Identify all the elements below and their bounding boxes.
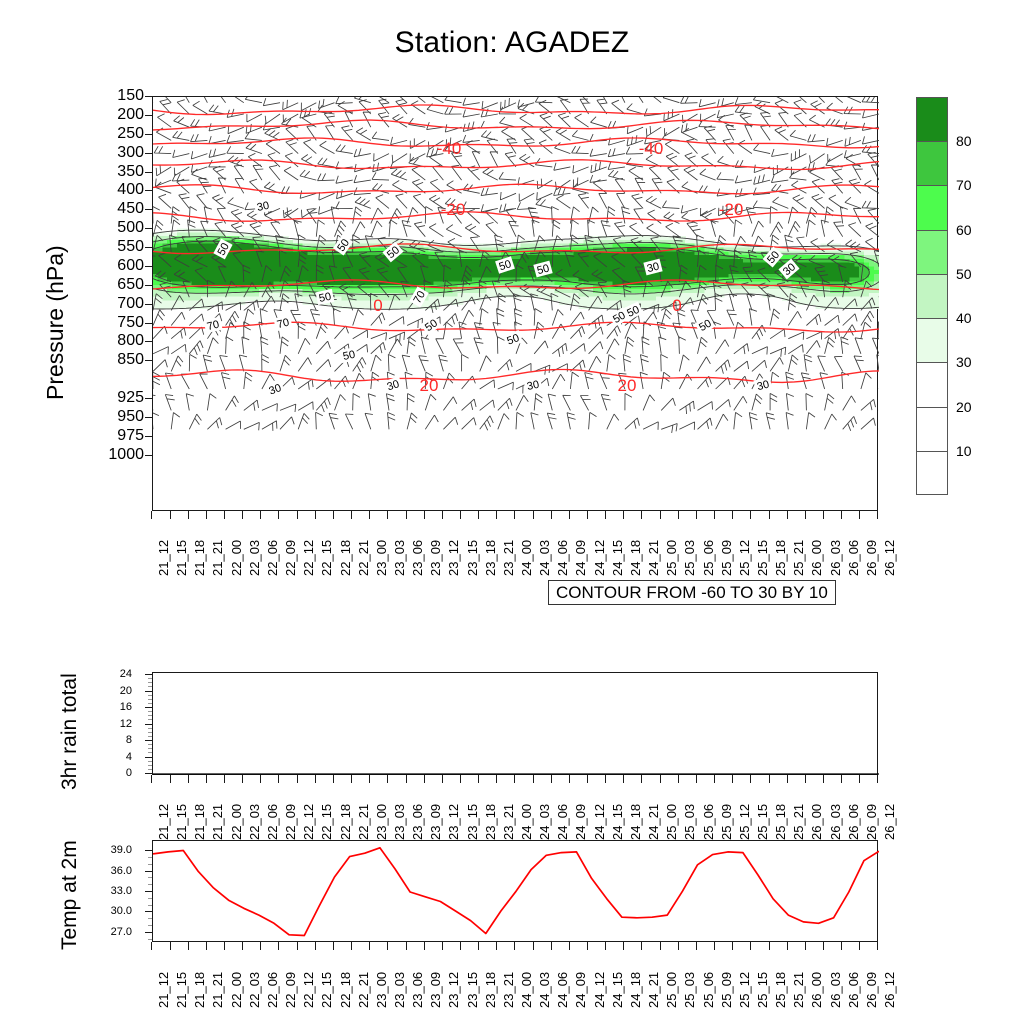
rain-x-tickmark <box>406 775 407 783</box>
main-x-label-23_06: 23_06 <box>411 540 424 576</box>
main-x-label-24_06: 24_06 <box>556 540 569 576</box>
temp-x-tickmark <box>750 942 751 950</box>
rain-tickmark <box>145 773 152 774</box>
rain-x-tickmark <box>514 775 515 783</box>
temp-x-tickmark <box>877 942 878 950</box>
rain-x-label-25_18: 25_18 <box>774 804 787 840</box>
rain-x-label-22_15: 22_15 <box>320 804 333 840</box>
main-x-label-24_09: 24_09 <box>574 540 587 576</box>
temp-x-label-25_06: 25_06 <box>702 972 715 1008</box>
colorbar-tick-30: 30 <box>956 355 972 369</box>
rain-x-tickmark <box>478 775 479 783</box>
pressure-tickmark <box>145 360 152 361</box>
main-x-label-24_15: 24_15 <box>611 540 624 576</box>
rain-x-label-23_03: 23_03 <box>393 804 406 840</box>
page-title: Station: AGADEZ <box>0 26 1024 60</box>
main-x-label-22_00: 22_00 <box>230 540 243 576</box>
rain-x-tickmark <box>151 775 152 783</box>
main-x-label-24_03: 24_03 <box>538 540 551 576</box>
svg-text:-20: -20 <box>719 200 744 219</box>
temp-x-tickmark <box>605 942 606 950</box>
rain-x-label-21_15: 21_15 <box>175 804 188 840</box>
temp-x-label-23_15: 23_15 <box>466 972 479 1008</box>
rain-x-tickmark <box>551 775 552 783</box>
colorbar-tick-80: 80 <box>956 134 972 148</box>
svg-text:0: 0 <box>672 296 681 315</box>
temp-plot-area <box>152 840 878 942</box>
rain-x-label-23_12: 23_12 <box>447 804 460 840</box>
temp-x-label-21_12: 21_12 <box>157 972 170 1008</box>
rain-x-label-24_21: 24_21 <box>647 804 660 840</box>
temp-x-label-22_18: 22_18 <box>339 972 352 1008</box>
main-x-label-25_15: 25_15 <box>756 540 769 576</box>
temp-x-label-25_00: 25_00 <box>665 972 678 1008</box>
rain-x-label-22_09: 22_09 <box>284 804 297 840</box>
pressure-tick-700: 700 <box>60 296 144 312</box>
rain-plot-area <box>152 672 878 775</box>
rain-tickmark <box>145 691 152 692</box>
temp-x-tickmark <box>696 942 697 950</box>
temp-x-label-26_12: 26_12 <box>883 972 896 1008</box>
svg-text:-20: -20 <box>441 200 466 219</box>
colorbar-tick-40: 40 <box>956 311 972 325</box>
temp-x-label-21_15: 21_15 <box>175 972 188 1008</box>
svg-text:20: 20 <box>618 376 637 395</box>
main-x-tickmark <box>750 511 751 519</box>
rain-tick-0: 0 <box>92 768 132 779</box>
temp-x-tickmark <box>569 942 570 950</box>
temp-tickmark <box>145 871 152 872</box>
colorbar-cell-2 <box>916 185 948 229</box>
rain-x-tickmark <box>369 775 370 783</box>
temp-tickmark <box>145 932 152 933</box>
temp-x-tickmark <box>769 942 770 950</box>
rain-x-label-26_06: 26_06 <box>847 804 860 840</box>
rain-x-label-21_12: 21_12 <box>157 804 170 840</box>
main-x-label-22_12: 22_12 <box>302 540 315 576</box>
rain-x-label-25_09: 25_09 <box>720 804 733 840</box>
temp-x-tickmark <box>315 942 316 950</box>
rain-x-label-25_03: 25_03 <box>683 804 696 840</box>
main-x-label-21_12: 21_12 <box>157 540 170 576</box>
main-x-label-24_18: 24_18 <box>629 540 642 576</box>
main-x-tickmark <box>732 511 733 519</box>
pressure-tickmark <box>145 115 152 116</box>
temp-x-label-24_09: 24_09 <box>574 972 587 1008</box>
rain-x-tickmark <box>533 775 534 783</box>
rain-x-tickmark <box>224 775 225 783</box>
temp-x-tickmark <box>841 942 842 950</box>
temp-x-label-23_06: 23_06 <box>411 972 424 1008</box>
main-x-label-22_15: 22_15 <box>320 540 333 576</box>
main-x-label-23_12: 23_12 <box>447 540 460 576</box>
main-x-tickmark <box>242 511 243 519</box>
chart-page: Station: AGADEZ Pressure (hPa) 150200250… <box>0 0 1024 1024</box>
main-x-tickmark <box>442 511 443 519</box>
pressure-tickmark <box>145 285 152 286</box>
rain-x-tickmark <box>877 775 878 783</box>
temp-x-tickmark <box>660 942 661 950</box>
main-x-label-23_09: 23_09 <box>429 540 442 576</box>
rain-x-tickmark <box>170 775 171 783</box>
temp-tick-39: 39.0 <box>84 845 132 856</box>
temp-x-label-23_21: 23_21 <box>502 972 515 1008</box>
temp-x-tickmark <box>514 942 515 950</box>
main-x-tickmark <box>841 511 842 519</box>
colorbar-cell-5 <box>916 318 948 362</box>
main-x-label-23_18: 23_18 <box>484 540 497 576</box>
rain-x-label-22_00: 22_00 <box>230 804 243 840</box>
temp-x-label-24_15: 24_15 <box>611 972 624 1008</box>
temp-series <box>153 841 879 943</box>
rain-x-label-22_12: 22_12 <box>302 804 315 840</box>
main-x-tickmark <box>170 511 171 519</box>
pressure-tick-800: 800 <box>60 333 144 349</box>
svg-text:-40: -40 <box>437 139 462 158</box>
temp-x-tickmark <box>151 942 152 950</box>
rain-x-tickmark <box>841 775 842 783</box>
rain-x-tickmark <box>278 775 279 783</box>
rain-panel-ylabel: 3hr rain total <box>58 673 82 790</box>
main-x-tickmark <box>696 511 697 519</box>
pressure-tickmark <box>145 96 152 97</box>
rain-x-label-22_06: 22_06 <box>266 804 279 840</box>
rain-x-label-23_15: 23_15 <box>466 804 479 840</box>
main-x-label-23_21: 23_21 <box>502 540 515 576</box>
contour-note: CONTOUR FROM -60 TO 30 BY 10 <box>548 580 836 605</box>
main-x-tickmark <box>188 511 189 519</box>
main-x-label-24_21: 24_21 <box>647 540 660 576</box>
temp-x-label-22_09: 22_09 <box>284 972 297 1008</box>
pressure-tick-250: 250 <box>60 126 144 142</box>
temp-x-label-26_06: 26_06 <box>847 972 860 1008</box>
main-x-tickmark <box>278 511 279 519</box>
main-x-label-25_18: 25_18 <box>774 540 787 576</box>
main-plot-area: -40-40-20-200020203050505050503030507050… <box>152 96 878 511</box>
svg-text:50: 50 <box>318 291 332 305</box>
main-x-tickmark <box>605 511 606 519</box>
main-x-tickmark <box>478 511 479 519</box>
temp-tickmark <box>145 850 152 851</box>
temp-x-label-25_12: 25_12 <box>738 972 751 1008</box>
rain-tick-16: 16 <box>92 702 132 713</box>
temp-x-tickmark <box>678 942 679 950</box>
main-x-tickmark <box>224 511 225 519</box>
main-x-label-23_15: 23_15 <box>466 540 479 576</box>
main-x-tickmark <box>460 511 461 519</box>
rain-x-tickmark <box>351 775 352 783</box>
main-x-label-25_03: 25_03 <box>683 540 696 576</box>
rain-x-label-24_15: 24_15 <box>611 804 624 840</box>
main-x-tickmark <box>297 511 298 519</box>
temp-x-tickmark <box>224 942 225 950</box>
temp-x-tickmark <box>369 942 370 950</box>
main-x-tickmark <box>496 511 497 519</box>
rain-tickmark <box>145 757 152 758</box>
rain-x-tickmark <box>242 775 243 783</box>
rain-x-label-23_18: 23_18 <box>484 804 497 840</box>
main-x-tickmark <box>714 511 715 519</box>
temp-x-label-24_18: 24_18 <box>629 972 642 1008</box>
colorbar-tick-10: 10 <box>956 444 972 458</box>
main-x-tickmark <box>551 511 552 519</box>
pressure-tick-950: 950 <box>60 409 144 425</box>
temp-x-tickmark <box>387 942 388 950</box>
main-x-tickmark <box>660 511 661 519</box>
pressure-tickmark <box>145 323 152 324</box>
rain-x-tickmark <box>460 775 461 783</box>
rain-x-tickmark <box>750 775 751 783</box>
temp-x-tickmark <box>424 942 425 950</box>
rain-x-label-24_18: 24_18 <box>629 804 642 840</box>
main-x-label-23_03: 23_03 <box>393 540 406 576</box>
main-x-label-26_06: 26_06 <box>847 540 860 576</box>
main-x-tickmark <box>587 511 588 519</box>
temp-x-tickmark <box>551 942 552 950</box>
pressure-tick-550: 550 <box>60 239 144 255</box>
colorbar <box>916 97 948 495</box>
main-x-label-25_09: 25_09 <box>720 540 733 576</box>
rain-tick-20: 20 <box>92 686 132 697</box>
rain-x-tickmark <box>732 775 733 783</box>
temp-x-label-26_03: 26_03 <box>829 972 842 1008</box>
svg-text:-40: -40 <box>639 139 664 158</box>
main-x-tickmark <box>514 511 515 519</box>
main-x-tickmark <box>859 511 860 519</box>
main-x-label-24_12: 24_12 <box>593 540 606 576</box>
rain-x-tickmark <box>442 775 443 783</box>
rain-x-label-23_21: 23_21 <box>502 804 515 840</box>
temp-tick-33: 33.0 <box>84 886 132 897</box>
pressure-tickmark <box>145 247 152 248</box>
rain-x-tickmark <box>823 775 824 783</box>
pressure-tickmark <box>145 417 152 418</box>
temp-x-tickmark <box>787 942 788 950</box>
temp-x-tickmark <box>460 942 461 950</box>
main-x-tickmark <box>533 511 534 519</box>
rain-x-label-25_21: 25_21 <box>792 804 805 840</box>
rain-x-tickmark <box>859 775 860 783</box>
rain-x-tickmark <box>805 775 806 783</box>
colorbar-cell-7 <box>916 407 948 451</box>
colorbar-cell-4 <box>916 274 948 318</box>
pressure-tickmark <box>145 398 152 399</box>
colorbar-tick-60: 60 <box>956 223 972 237</box>
rain-x-tickmark <box>496 775 497 783</box>
rain-tickmark <box>145 724 152 725</box>
rain-x-label-23_00: 23_00 <box>375 804 388 840</box>
main-x-label-22_03: 22_03 <box>248 540 261 576</box>
rain-tick-12: 12 <box>92 719 132 730</box>
main-x-label-22_21: 22_21 <box>357 540 370 576</box>
main-x-label-21_15: 21_15 <box>175 540 188 576</box>
temp-x-tickmark <box>805 942 806 950</box>
rain-x-label-24_00: 24_00 <box>520 804 533 840</box>
temp-x-label-22_00: 22_00 <box>230 972 243 1008</box>
main-x-label-24_00: 24_00 <box>520 540 533 576</box>
main-x-tickmark <box>333 511 334 519</box>
rain-x-label-25_12: 25_12 <box>738 804 751 840</box>
rain-x-tickmark <box>623 775 624 783</box>
rain-x-tickmark <box>315 775 316 783</box>
temp-panel-ylabel: Temp at 2m <box>58 840 82 950</box>
temp-x-tickmark <box>442 942 443 950</box>
pressure-tick-500: 500 <box>60 220 144 236</box>
rain-x-label-25_06: 25_06 <box>702 804 715 840</box>
rain-tickmark <box>145 707 152 708</box>
rain-x-tickmark <box>587 775 588 783</box>
temp-x-label-22_15: 22_15 <box>320 972 333 1008</box>
main-x-label-25_00: 25_00 <box>665 540 678 576</box>
svg-text:30: 30 <box>256 200 270 214</box>
rain-x-tickmark <box>641 775 642 783</box>
temp-x-tickmark <box>496 942 497 950</box>
temp-x-tickmark <box>823 942 824 950</box>
pressure-tick-850: 850 <box>60 352 144 368</box>
rain-x-tickmark <box>188 775 189 783</box>
temp-x-tickmark <box>351 942 352 950</box>
rain-x-tickmark <box>787 775 788 783</box>
colorbar-cell-0 <box>916 97 948 141</box>
rain-x-tickmark <box>333 775 334 783</box>
main-x-label-26_03: 26_03 <box>829 540 842 576</box>
pressure-tick-200: 200 <box>60 107 144 123</box>
pressure-tickmark <box>145 172 152 173</box>
temp-x-tickmark <box>406 942 407 950</box>
rain-x-label-26_09: 26_09 <box>865 804 878 840</box>
main-x-tickmark <box>206 511 207 519</box>
colorbar-cell-3 <box>916 230 948 274</box>
temp-x-tickmark <box>533 942 534 950</box>
main-x-label-26_12: 26_12 <box>883 540 896 576</box>
temp-x-tickmark <box>641 942 642 950</box>
rain-x-label-24_09: 24_09 <box>574 804 587 840</box>
temp-x-tickmark <box>859 942 860 950</box>
temp-x-label-23_18: 23_18 <box>484 972 497 1008</box>
rain-x-tickmark <box>260 775 261 783</box>
rain-x-tickmark <box>605 775 606 783</box>
temp-x-tickmark <box>587 942 588 950</box>
svg-text:20: 20 <box>420 376 439 395</box>
temp-x-label-24_03: 24_03 <box>538 972 551 1008</box>
rain-x-label-26_12: 26_12 <box>883 804 896 840</box>
rain-x-label-21_21: 21_21 <box>211 804 224 840</box>
main-x-label-25_12: 25_12 <box>738 540 751 576</box>
temp-x-label-22_03: 22_03 <box>248 972 261 1008</box>
temp-x-label-25_09: 25_09 <box>720 972 733 1008</box>
pressure-tick-650: 650 <box>60 277 144 293</box>
rain-tickmark <box>145 740 152 741</box>
temp-x-label-25_18: 25_18 <box>774 972 787 1008</box>
temp-tickmark <box>145 911 152 912</box>
pressure-tickmark <box>145 190 152 191</box>
colorbar-tick-20: 20 <box>956 400 972 414</box>
rain-tick-8: 8 <box>92 735 132 746</box>
rain-x-tickmark <box>660 775 661 783</box>
pressure-tickmark <box>145 134 152 135</box>
rain-x-tickmark <box>424 775 425 783</box>
pressure-tickmark <box>145 455 152 456</box>
pressure-tickmark <box>145 153 152 154</box>
rain-x-label-22_18: 22_18 <box>339 804 352 840</box>
pressure-tickmark <box>145 228 152 229</box>
main-x-tickmark <box>351 511 352 519</box>
main-x-tickmark <box>424 511 425 519</box>
temp-x-tickmark <box>188 942 189 950</box>
rain-x-label-25_00: 25_00 <box>665 804 678 840</box>
main-x-tickmark <box>787 511 788 519</box>
main-x-tickmark <box>387 511 388 519</box>
cross-section-plot: -40-40-20-200020203050505050503030507050… <box>153 97 879 512</box>
rain-x-label-26_00: 26_00 <box>810 804 823 840</box>
colorbar-cell-8 <box>916 451 948 495</box>
main-x-tickmark <box>569 511 570 519</box>
pressure-tickmark <box>145 266 152 267</box>
rain-x-label-24_06: 24_06 <box>556 804 569 840</box>
temp-x-tickmark <box>170 942 171 950</box>
rain-x-tickmark <box>714 775 715 783</box>
pressure-tickmark <box>145 436 152 437</box>
main-x-tickmark <box>260 511 261 519</box>
main-x-label-22_09: 22_09 <box>284 540 297 576</box>
rain-x-label-23_09: 23_09 <box>429 804 442 840</box>
temp-x-tickmark <box>297 942 298 950</box>
temp-x-label-23_03: 23_03 <box>393 972 406 1008</box>
main-x-label-26_09: 26_09 <box>865 540 878 576</box>
svg-text:30: 30 <box>526 379 540 393</box>
temp-tick-27: 27.0 <box>84 927 132 938</box>
temp-x-label-25_03: 25_03 <box>683 972 696 1008</box>
rain-x-tickmark <box>297 775 298 783</box>
main-x-label-25_21: 25_21 <box>792 540 805 576</box>
temp-x-label-24_00: 24_00 <box>520 972 533 1008</box>
rain-x-tickmark <box>387 775 388 783</box>
pressure-tick-925: 925 <box>60 390 144 406</box>
rain-x-tickmark <box>206 775 207 783</box>
temp-x-label-21_21: 21_21 <box>211 972 224 1008</box>
main-x-tickmark <box>769 511 770 519</box>
rain-x-label-23_06: 23_06 <box>411 804 424 840</box>
temp-x-tickmark <box>206 942 207 950</box>
temp-x-label-24_21: 24_21 <box>647 972 660 1008</box>
pressure-tickmark <box>145 304 152 305</box>
temp-tickmark <box>145 891 152 892</box>
temp-x-label-21_18: 21_18 <box>193 972 206 1008</box>
temp-x-label-22_21: 22_21 <box>357 972 370 1008</box>
rain-series <box>153 673 879 776</box>
rain-tick-4: 4 <box>92 752 132 763</box>
rain-x-label-21_18: 21_18 <box>193 804 206 840</box>
rain-x-tickmark <box>769 775 770 783</box>
main-x-tickmark <box>315 511 316 519</box>
rain-x-label-24_03: 24_03 <box>538 804 551 840</box>
main-x-tickmark <box>151 511 152 519</box>
temp-x-label-26_09: 26_09 <box>865 972 878 1008</box>
temp-x-tickmark <box>478 942 479 950</box>
temp-x-tickmark <box>623 942 624 950</box>
pressure-tick-350: 350 <box>60 164 144 180</box>
main-x-tickmark <box>823 511 824 519</box>
main-x-tickmark <box>877 511 878 519</box>
temp-x-tickmark <box>333 942 334 950</box>
main-x-label-21_21: 21_21 <box>211 540 224 576</box>
temp-x-tickmark <box>242 942 243 950</box>
main-x-tickmark <box>623 511 624 519</box>
temp-x-label-23_00: 23_00 <box>375 972 388 1008</box>
colorbar-tick-70: 70 <box>956 178 972 192</box>
pressure-tick-975: 975 <box>60 428 144 444</box>
svg-text:0: 0 <box>373 296 382 315</box>
